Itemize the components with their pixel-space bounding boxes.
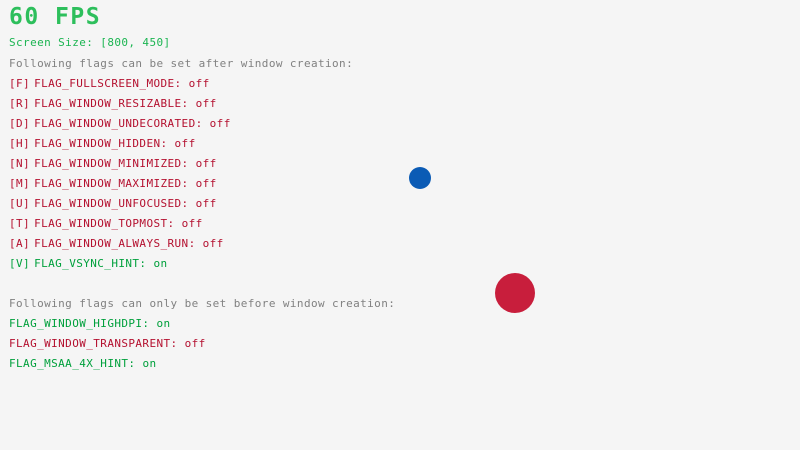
flag-row-flag-window-always-run[interactable]: [A]FLAG_WINDOW_ALWAYS_RUN: off	[9, 238, 224, 250]
flag-row-flag-window-minimized[interactable]: [N]FLAG_WINDOW_MINIMIZED: off	[9, 158, 217, 170]
flag-row-flag-fullscreen-mode[interactable]: [F]FLAG_FULLSCREEN_MODE: off	[9, 78, 210, 90]
flag-row-flag-vsync-hint[interactable]: [V]FLAG_VSYNC_HINT: on	[9, 258, 168, 270]
screen-size-label: Screen Size: [800, 450]	[9, 37, 171, 49]
flag-row-flag-window-transparent[interactable]: FLAG_WINDOW_TRANSPARENT: off	[9, 338, 206, 350]
flag-shortcut-key: [M]	[9, 177, 30, 190]
flag-state-value: off	[196, 157, 217, 170]
flag-row-flag-msaa-4x-hint[interactable]: FLAG_MSAA_4X_HINT: on	[9, 358, 156, 370]
flag-name: FLAG_WINDOW_HIGHDPI:	[9, 317, 156, 330]
flag-name: FLAG_MSAA_4X_HINT:	[9, 357, 142, 370]
flag-row-flag-window-resizable[interactable]: [R]FLAG_WINDOW_RESIZABLE: off	[9, 98, 217, 110]
flag-name: FLAG_WINDOW_ALWAYS_RUN:	[34, 237, 203, 250]
flag-state-value: off	[189, 77, 210, 90]
bouncing-ball-blue	[409, 167, 431, 189]
flag-state-value: on	[156, 317, 170, 330]
flag-name: FLAG_WINDOW_HIDDEN:	[34, 137, 174, 150]
section-heading-after-creation: Following flags can be set after window …	[9, 58, 353, 70]
flag-row-flag-window-highdpi[interactable]: FLAG_WINDOW_HIGHDPI: on	[9, 318, 171, 330]
flag-shortcut-key: [F]	[9, 77, 30, 90]
flag-shortcut-key: [D]	[9, 117, 30, 130]
flag-row-flag-window-unfocused[interactable]: [U]FLAG_WINDOW_UNFOCUSED: off	[9, 198, 217, 210]
flag-row-flag-window-maximized[interactable]: [M]FLAG_WINDOW_MAXIMIZED: off	[9, 178, 217, 190]
flag-shortcut-key: [R]	[9, 97, 30, 110]
flag-name: FLAG_WINDOW_UNFOCUSED:	[34, 197, 196, 210]
flag-row-flag-window-topmost[interactable]: [T]FLAG_WINDOW_TOPMOST: off	[9, 218, 203, 230]
flag-state-value: off	[196, 177, 217, 190]
flag-row-flag-window-undecorated[interactable]: [D]FLAG_WINDOW_UNDECORATED: off	[9, 118, 231, 130]
bouncing-ball-red	[495, 273, 535, 313]
flag-name: FLAG_VSYNC_HINT:	[34, 257, 153, 270]
fps-counter: 60 FPS	[9, 5, 101, 29]
flag-state-value: off	[196, 97, 217, 110]
flag-state-value: off	[175, 137, 196, 150]
flag-shortcut-key: [N]	[9, 157, 30, 170]
flag-name: FLAG_WINDOW_UNDECORATED:	[34, 117, 210, 130]
flag-name: FLAG_WINDOW_TOPMOST:	[34, 217, 181, 230]
flag-state-value: on	[153, 257, 167, 270]
flag-name: FLAG_WINDOW_MAXIMIZED:	[34, 177, 196, 190]
flag-state-value: off	[185, 337, 206, 350]
flag-state-value: off	[210, 117, 231, 130]
flag-state-value: on	[142, 357, 156, 370]
flag-shortcut-key: [U]	[9, 197, 30, 210]
flag-shortcut-key: [H]	[9, 137, 30, 150]
flag-name: FLAG_FULLSCREEN_MODE:	[34, 77, 189, 90]
flag-shortcut-key: [V]	[9, 257, 30, 270]
flag-state-value: off	[196, 197, 217, 210]
flag-row-flag-window-hidden[interactable]: [H]FLAG_WINDOW_HIDDEN: off	[9, 138, 196, 150]
flag-name: FLAG_WINDOW_TRANSPARENT:	[9, 337, 185, 350]
raylib-window[interactable]: 60 FPS Screen Size: [800, 450] Following…	[0, 0, 800, 450]
flag-state-value: off	[182, 217, 203, 230]
flag-shortcut-key: [A]	[9, 237, 30, 250]
section-heading-before-creation: Following flags can only be set before w…	[9, 298, 395, 310]
flag-shortcut-key: [T]	[9, 217, 30, 230]
flag-name: FLAG_WINDOW_RESIZABLE:	[34, 97, 196, 110]
flag-name: FLAG_WINDOW_MINIMIZED:	[34, 157, 196, 170]
flag-state-value: off	[203, 237, 224, 250]
